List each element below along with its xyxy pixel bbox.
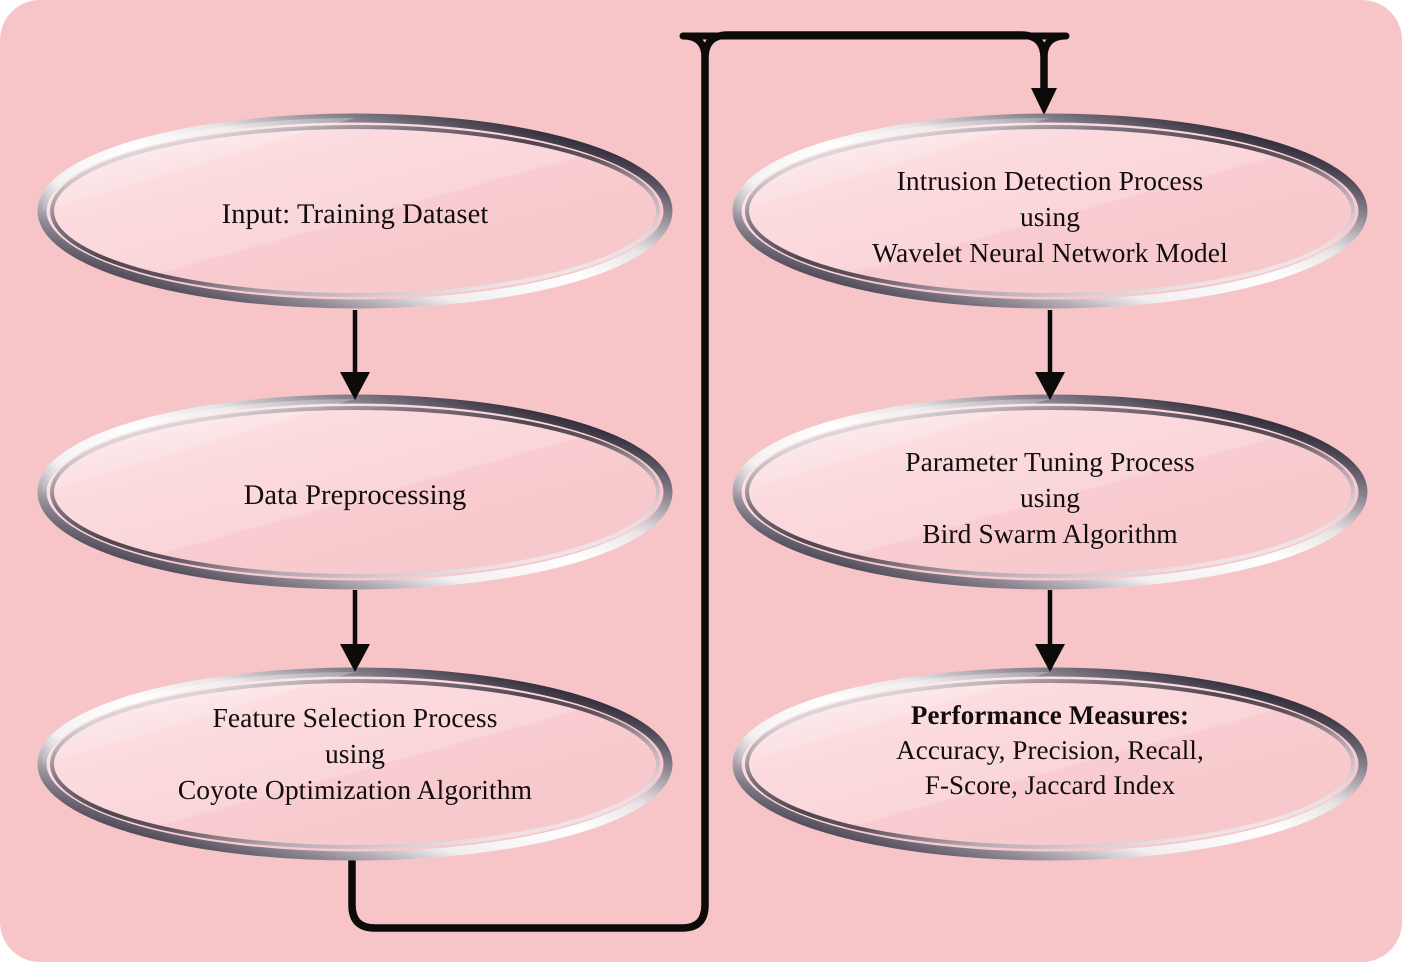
edge-preprocessing-to-feature-selection: [340, 590, 370, 672]
intrusion-detection-ellipse: [737, 118, 1363, 304]
feature-selection-ellipse: [42, 672, 668, 856]
data-preprocessing-ellipse: [42, 399, 668, 585]
input-training-dataset-ellipse: [42, 118, 668, 304]
performance-measures-ellipse: [737, 672, 1363, 856]
edge-input-to-preprocessing: [340, 310, 370, 400]
flowchart-figure: Input: Training Dataset Data Preprocessi…: [0, 0, 1405, 970]
feedback-loop-arrowhead: [1031, 88, 1057, 115]
edge-parameter-tuning-to-performance-measures: [1035, 590, 1065, 672]
parameter-tuning-ellipse: [737, 399, 1363, 585]
edge-intrusion-detection-to-parameter-tuning: [1035, 310, 1065, 400]
flowchart-graphics-layer: [0, 0, 1405, 970]
